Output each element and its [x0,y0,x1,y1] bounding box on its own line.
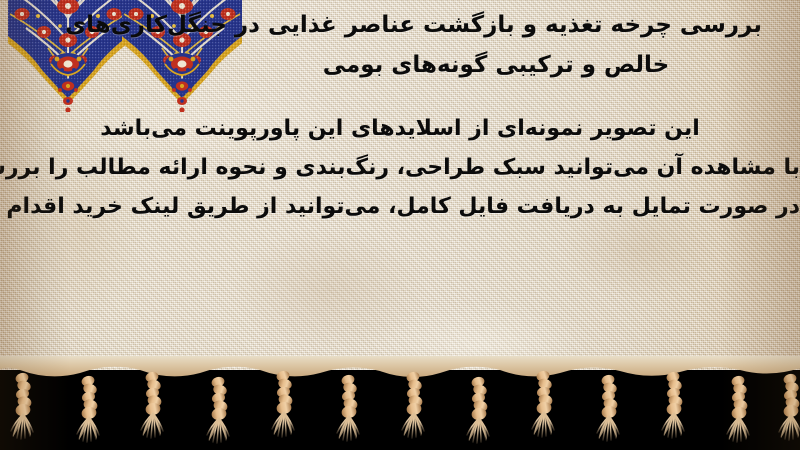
slide-canvas: بررسی چرخه تغذیه و بازگشت عناصر غذایی در… [0,0,800,450]
persian-medallion-ornament-right [122,0,242,112]
bottom-black-band [0,370,800,450]
persian-medallion-ornament-left [8,0,128,112]
